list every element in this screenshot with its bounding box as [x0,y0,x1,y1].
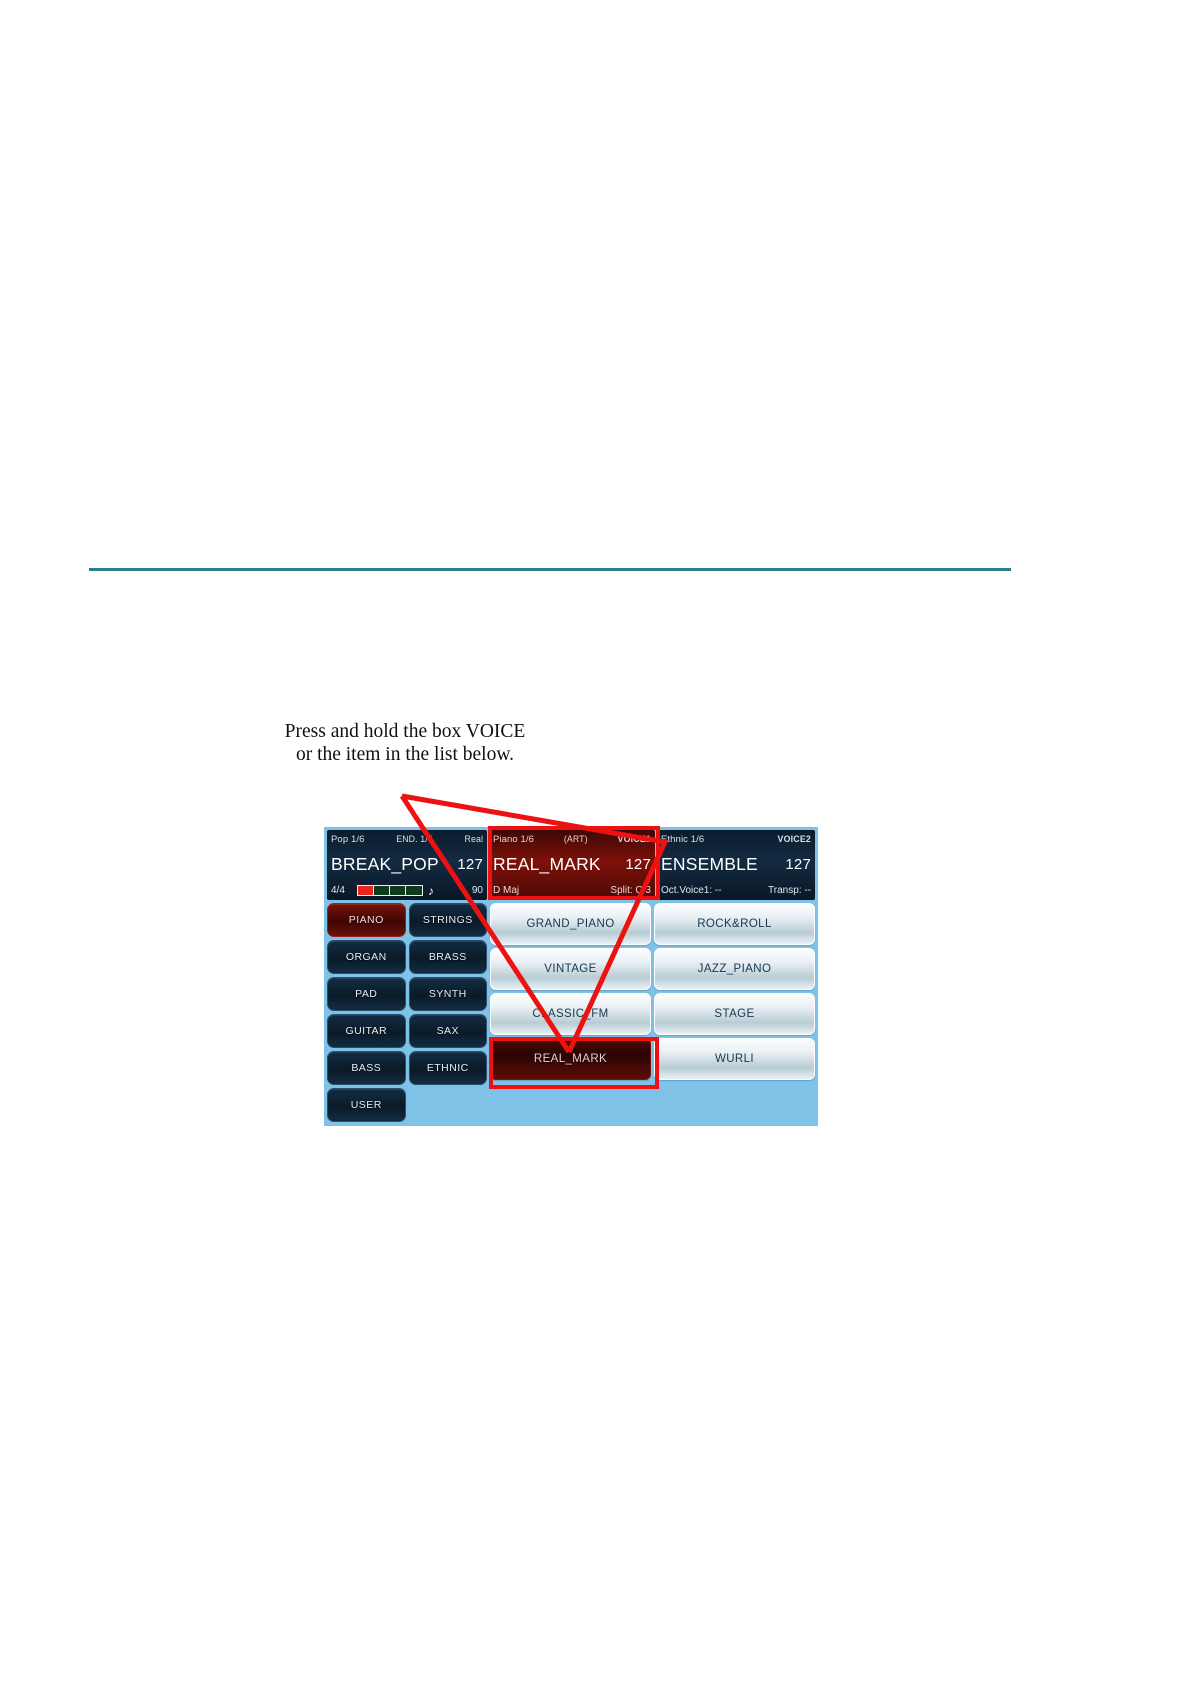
style-panel[interactable]: Pop 1/6 END. 1/4 Real BREAK_POP 127 4/4 … [327,830,487,900]
voice-item-wurli[interactable]: WURLI [654,1038,815,1080]
caption-line-1: Press and hold the box VOICE [235,720,575,743]
category-button-label: ETHNIC [427,1062,469,1074]
voice-item-label: GRAND_PIANO [526,918,614,930]
category-button-pad[interactable]: PAD [327,977,406,1011]
voice1-art-label: (ART) [564,834,588,844]
category-button-brass[interactable]: BRASS [409,940,488,974]
voice-item-label: JAZZ_PIANO [698,963,772,975]
voice2-panel-name-row: ENSEMBLE 127 [657,848,815,880]
style-name: BREAK_POP [331,854,439,875]
style-mode-label: Real [465,834,484,844]
voice-item-label: ROCK&ROLL [697,918,772,930]
voice2-volume: 127 [785,856,811,873]
style-volume: 127 [457,856,483,873]
voice-item-grand-piano[interactable]: GRAND_PIANO [490,903,651,945]
voice-item-rock-roll[interactable]: ROCK&ROLL [654,903,815,945]
voice1-split: Split: C 3 [610,885,651,896]
category-button-label: BASS [351,1062,381,1074]
lcd-body: PIANOSTRINGSORGANBRASSPADSYNTHGUITARSAXB… [327,903,815,1122]
category-button-label: GUITAR [345,1025,387,1037]
voice-item-classic-fm[interactable]: CLASSIC_FM [490,993,651,1035]
tempo-value: 90 [472,885,483,896]
voice-item-label: REAL_MARK [534,1053,607,1065]
voice-item-label: WURLI [715,1053,754,1065]
voice1-bank-label: Piano 1/6 [493,834,534,845]
voice-list-column: GRAND_PIANOROCK&ROLLVINTAGEJAZZ_PIANOCLA… [490,903,815,1122]
lcd-info-strip: Pop 1/6 END. 1/4 Real BREAK_POP 127 4/4 … [327,830,815,900]
voice-item-vintage[interactable]: VINTAGE [490,948,651,990]
category-button-label: ORGAN [346,951,387,963]
category-button-label: BRASS [429,951,467,963]
style-section-label: END. 1/4 [396,834,433,844]
voice2-bank-label: Ethnic 1/6 [661,834,704,845]
note-icon: ♪ [428,884,434,898]
category-button-bass[interactable]: BASS [327,1051,406,1085]
voice1-panel-footer: D Maj Split: C 3 [489,881,655,900]
category-button-user[interactable]: USER [327,1088,406,1122]
voice-item-stage[interactable]: STAGE [654,993,815,1035]
transpose: Transp: -- [768,885,811,896]
voice-item-label: CLASSIC_FM [532,1008,608,1020]
category-button-piano[interactable]: PIANO [327,903,406,937]
instruction-caption: Press and hold the box VOICE or the item… [235,720,575,766]
voice1-panel-header: Piano 1/6 (ART) VOICE1 [489,830,655,848]
style-panel-header: Pop 1/6 END. 1/4 Real [327,830,487,848]
octave-voice1: Oct.Voice1: -- [661,885,722,896]
category-button-organ[interactable]: ORGAN [327,940,406,974]
category-button-synth[interactable]: SYNTH [409,977,488,1011]
voice1-key: D Maj [493,885,519,896]
voice2-panel[interactable]: Ethnic 1/6 VOICE2 ENSEMBLE 127 Oct.Voice… [657,830,815,900]
voice2-panel-header: Ethnic 1/6 VOICE2 [657,830,815,848]
voice-list-grid: GRAND_PIANOROCK&ROLLVINTAGEJAZZ_PIANOCLA… [490,903,815,1080]
voice2-panel-footer: Oct.Voice1: -- Transp: -- [657,881,815,900]
category-grid: PIANOSTRINGSORGANBRASSPADSYNTHGUITARSAXB… [327,903,487,1122]
voice1-volume: 127 [625,856,651,873]
device-lcd-screen: Pop 1/6 END. 1/4 Real BREAK_POP 127 4/4 … [324,827,818,1126]
style-bank-label: Pop 1/6 [331,834,364,845]
category-button-label: USER [351,1099,382,1111]
style-panel-footer: 4/4 ♪ 90 [327,881,487,900]
category-button-label: SYNTH [429,988,467,1000]
voice-item-real-mark[interactable]: REAL_MARK [490,1038,651,1080]
voice-item-label: VINTAGE [544,963,596,975]
voice1-name: REAL_MARK [493,854,601,875]
caption-line-2: or the item in the list below. [235,743,575,766]
category-button-sax[interactable]: SAX [409,1014,488,1048]
voice-item-jazz-piano[interactable]: JAZZ_PIANO [654,948,815,990]
category-button-strings[interactable]: STRINGS [409,903,488,937]
voice1-slot-label: VOICE1 [618,834,651,844]
voice-item-label: STAGE [714,1008,754,1020]
voice1-panel[interactable]: Piano 1/6 (ART) VOICE1 REAL_MARK 127 D M… [489,830,655,900]
page-divider [89,568,1011,571]
tempo-meter-icon [357,885,423,896]
style-panel-name-row: BREAK_POP 127 [327,848,487,880]
time-signature: 4/4 [331,885,345,896]
voice2-name: ENSEMBLE [661,854,758,875]
voice2-slot-label: VOICE2 [778,834,811,844]
category-button-label: PAD [355,988,377,1000]
voice1-panel-name-row: REAL_MARK 127 [489,848,655,880]
category-button-label: STRINGS [423,914,473,926]
category-button-ethnic[interactable]: ETHNIC [409,1051,488,1085]
category-button-label: PIANO [349,914,384,926]
category-button-guitar[interactable]: GUITAR [327,1014,406,1048]
category-button-label: SAX [437,1025,459,1037]
category-column: PIANOSTRINGSORGANBRASSPADSYNTHGUITARSAXB… [327,903,487,1122]
